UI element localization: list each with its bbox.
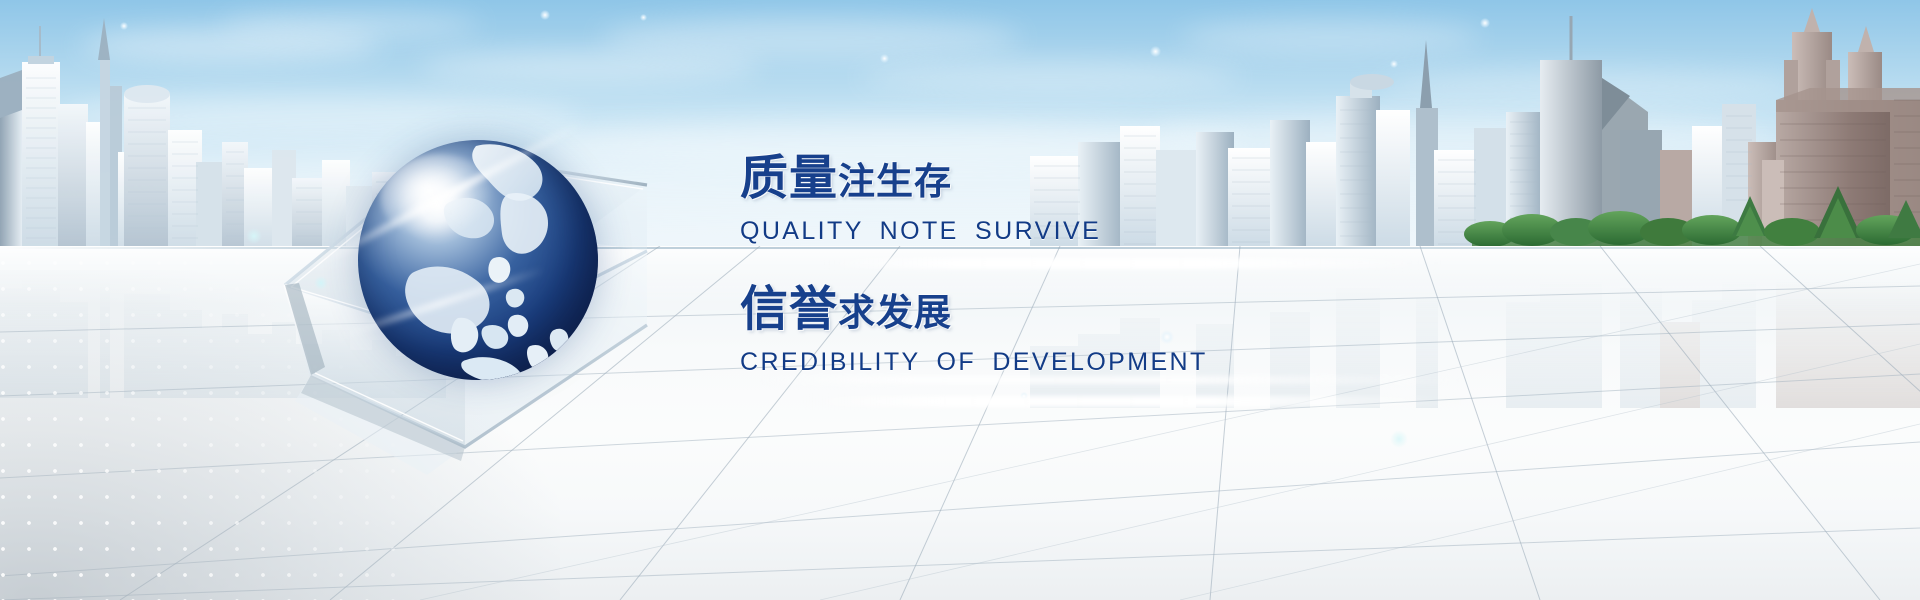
text-sheen-top (820, 258, 1440, 269)
sparkle (120, 22, 128, 30)
sparkle (1480, 18, 1490, 28)
sparkle (1390, 430, 1408, 448)
slogan-block-credibility: 信誉求发展 CREDIBILITY OF DEVELOPMENT (740, 286, 1440, 377)
headline-credibility-lead: 信誉 (740, 283, 838, 336)
sparkle (246, 228, 262, 244)
sparkle (640, 14, 647, 21)
subtitle-credibility: CREDIBILITY OF DEVELOPMENT (740, 348, 1440, 377)
text-sheen-bottom-2 (760, 376, 1460, 384)
subtitle-quality: QUALITY NOTE SURVIVE (740, 217, 1440, 246)
sparkle (1390, 60, 1398, 68)
headline-credibility-tail: 求发展 (838, 292, 952, 333)
promo-banner: 质量注生存 QUALITY NOTE SURVIVE 信誉求发展 CREDIBI… (0, 0, 1920, 600)
headline-quality: 质量注生存 (740, 155, 1440, 203)
headline-quality-lead: 质量 (740, 152, 838, 205)
sparkle (540, 10, 550, 20)
headline-quality-tail: 注生存 (838, 161, 952, 202)
sparkle (880, 54, 889, 63)
slogan-block-quality: 质量注生存 QUALITY NOTE SURVIVE (740, 155, 1440, 246)
headline-credibility: 信誉求发展 (740, 286, 1440, 334)
text-sheen-bottom (800, 396, 1460, 407)
sparkle (314, 276, 328, 290)
sparkle (1150, 46, 1161, 57)
